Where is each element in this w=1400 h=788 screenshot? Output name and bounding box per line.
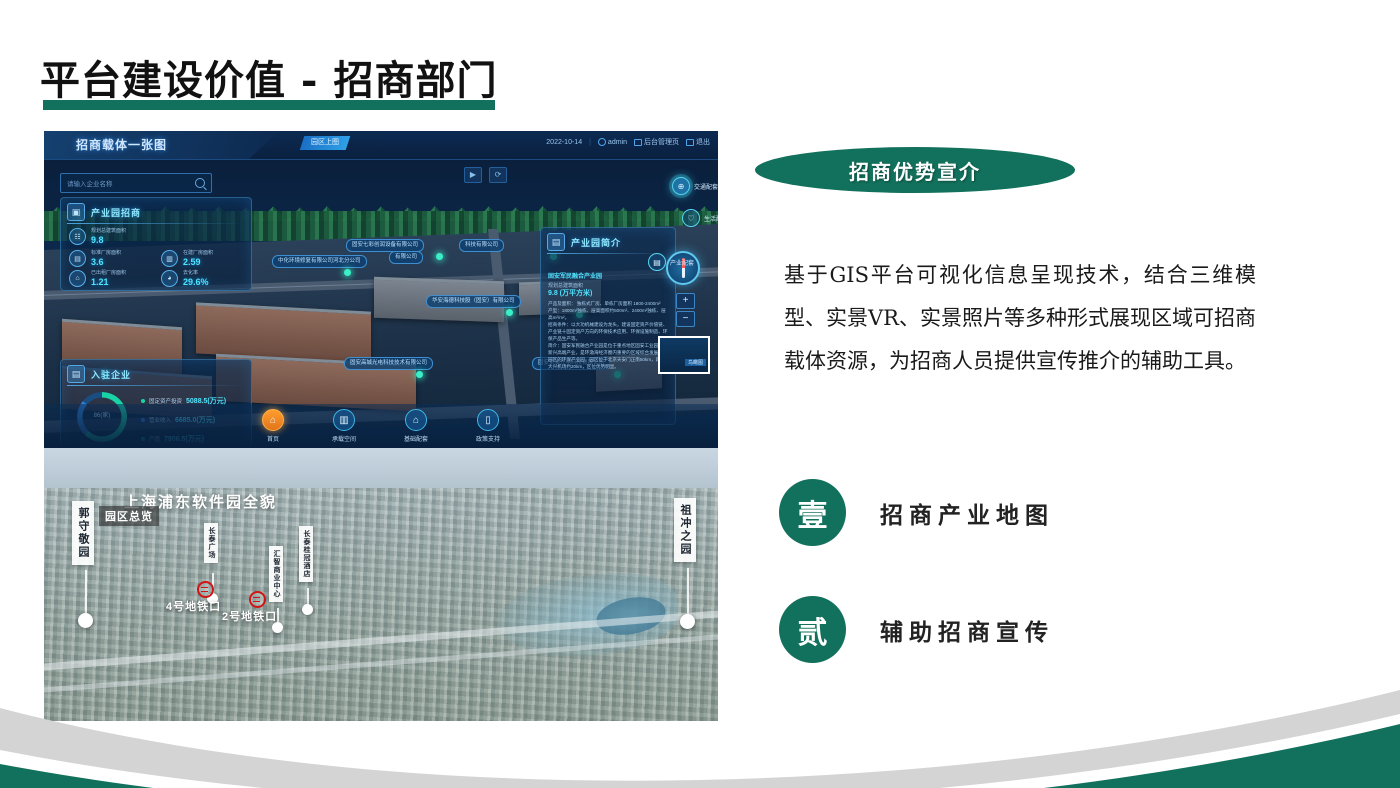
map-label[interactable]: 固安高城光电科技技术有限公司: [344, 357, 433, 370]
monitor-icon: [634, 139, 642, 146]
stat-label: 在建厂房面积: [183, 250, 213, 257]
panel-title: 产业园招商: [91, 206, 141, 219]
stat-item: ▤ 标准厂房面积 3.6: [69, 250, 121, 267]
bullet-item-2: 贰 辅助招商宣传: [779, 596, 1054, 663]
factory-icon: ▤: [69, 250, 86, 267]
pin-stem: [687, 568, 689, 616]
admin-link-label: 后台管理页: [644, 137, 679, 147]
bullet-number: 贰: [779, 596, 846, 663]
user-menu[interactable]: admin: [598, 138, 627, 146]
building-icon: ▣: [67, 203, 85, 221]
panel-header: ▤ 入驻企业: [67, 365, 131, 383]
legend-swatch: [141, 399, 145, 403]
stat-item: ☷ 规划总建筑面积 9.8: [69, 228, 126, 245]
logout-label: 退出: [696, 137, 710, 147]
panel-divider: [67, 385, 243, 386]
users-icon: ☷: [69, 228, 86, 245]
home-icon: ⌂: [69, 270, 86, 287]
intro-paragraph: 招商条件：以大功机械建设为龙头，建设固定资产价值链、产业链十固定资产方向的环保技…: [548, 322, 667, 341]
bullet-label: 招商产业地图: [880, 496, 1054, 530]
bullet-number: 壹: [779, 479, 846, 546]
info-icon: ▤: [547, 233, 565, 251]
float-button-transport[interactable]: ⊕ 交通配套: [672, 177, 718, 195]
industry-icon: ▤: [648, 253, 666, 271]
pin-marker[interactable]: [78, 613, 93, 628]
user-icon: [598, 138, 606, 146]
header-right-group: 2022-10-14 | admin 后台管理页 退出: [546, 137, 710, 147]
stat-value: 1.21: [91, 277, 126, 287]
panel-header: ▣ 产业园招商: [67, 203, 141, 221]
stat-value: 3.6: [91, 257, 121, 267]
policy-icon: ▯: [477, 409, 499, 431]
intro-area-value: 9.8 (万平方米): [548, 290, 668, 297]
nav-item-space[interactable]: ▥ 承载空间: [332, 409, 356, 443]
pie-icon: ◕: [161, 270, 178, 287]
body-paragraph: 基于GIS平台可视化信息呈现技术，结合三维模型、实景VR、实景照片等多种形式展现…: [784, 254, 1256, 383]
stat-item: ▥ 在建厂房面积 2.59: [161, 250, 213, 267]
map-label[interactable]: 有限公司: [389, 251, 423, 264]
page-title: 平台建设价值 - 招商部门: [40, 48, 497, 106]
panel-divider: [67, 223, 243, 224]
pin-stem: [85, 570, 87, 615]
intro-paragraph: 产型：1800m²独栋、层高面积约500m²、2400m²独栋、层高m²/m²。: [548, 308, 666, 320]
minimap-thumbnail[interactable]: [658, 336, 710, 374]
metro-label: 4号地铁口: [166, 598, 221, 614]
zoom-in-button[interactable]: +: [676, 293, 695, 309]
refresh-button[interactable]: ⟳: [489, 167, 507, 183]
nav-item-facility[interactable]: ⌂ 基础配套: [404, 409, 428, 443]
map-marker[interactable]: [436, 253, 443, 260]
float-button-label: 产业配套: [670, 258, 694, 267]
aerial-photo: 上海浦东软件园全貌 园区总览 郭守敬园 祖冲之园 长泰广场 汇智商业中心 长泰桂…: [44, 448, 718, 721]
stat-label: 规划总建筑面积: [91, 228, 126, 235]
nav-item-label: 首页: [267, 434, 279, 443]
user-name: admin: [608, 139, 627, 146]
nav-item-home[interactable]: ⌂ 首页: [262, 409, 284, 443]
nav-item-label: 承载空间: [332, 434, 356, 443]
stat-label: 标准厂房面积: [91, 250, 121, 257]
nav-item-label: 基础配套: [404, 434, 428, 443]
stat-item: ⌂ 已出租厂房面积 1.21: [69, 270, 126, 287]
title-underline-rule: [43, 100, 495, 110]
home-icon: ⌂: [262, 409, 284, 431]
bullet-label: 辅助招商宣传: [880, 613, 1054, 647]
section-pill-label: 招商优势宣介: [755, 147, 1075, 193]
header-badge[interactable]: 园区上图: [300, 136, 351, 150]
header-separator: |: [589, 139, 591, 146]
gis-screenshot-frame: 中化环境修复有限公司河北分公司 固安七彩创润设备有限公司 科技有限公司 有限公司…: [44, 131, 718, 721]
metro-icon[interactable]: [197, 581, 214, 598]
play-button[interactable]: ▶: [464, 167, 482, 183]
nav-item-policy[interactable]: ▯ 政策支持: [476, 409, 500, 443]
pin-label[interactable]: 郭守敬园: [72, 501, 94, 565]
map-marker[interactable]: [506, 309, 513, 316]
pin-marker[interactable]: [680, 614, 695, 629]
pin-label[interactable]: 长泰桂冠酒店: [299, 526, 313, 582]
life-icon: ♡: [682, 209, 700, 227]
panel-title: 入驻企业: [91, 368, 131, 381]
pin-label[interactable]: 长泰广场: [204, 523, 218, 563]
intro-paragraph: 简介：固安军民融合产业园是位于重点地区固安工业园区的新兴高端产业，是环渤海经济圈…: [548, 343, 667, 369]
pin-marker[interactable]: [302, 604, 313, 615]
industrial-park-panel: ▣ 产业园招商 ☷ 规划总建筑面积 9.8 ▤ 标准厂房面积 3.6 ▥: [60, 197, 252, 291]
footer-wave-white: [0, 714, 1400, 788]
map-marker[interactable]: [416, 371, 423, 378]
admin-link[interactable]: 后台管理页: [634, 137, 679, 147]
minimap-label: 鸟瞰图: [685, 359, 706, 366]
panel-title: 产业园简介: [571, 236, 621, 249]
nav-item-label: 政策支持: [476, 434, 500, 443]
footer-wave-green: [0, 724, 1400, 788]
map-label[interactable]: 华安海德科技股（固安）有限公司: [426, 295, 521, 308]
document-icon: ▤: [67, 365, 85, 383]
crane-icon: ▥: [161, 250, 178, 267]
search-icon[interactable]: [195, 178, 205, 188]
pin-label[interactable]: 汇智商业中心: [269, 546, 283, 602]
intro-subtitle: 固安军民融合产业园: [548, 274, 668, 281]
metro-label: 2号地铁口: [222, 608, 277, 624]
facility-icon: ⌂: [405, 409, 427, 431]
search-placeholder: 请输入企业名称: [67, 178, 113, 188]
stat-value: 29.6%: [183, 277, 209, 287]
header-badge-label: 园区上图: [311, 136, 339, 150]
mini-toolbar: ▶ ⟳: [464, 167, 507, 183]
float-button-industry[interactable]: ▤ 产业配套: [648, 253, 694, 271]
app-title: 招商载体一张图: [76, 136, 167, 153]
bottom-navigation: ⌂ 首页 ▥ 承载空间 ⌂ 基础配套 ▯ 政策支持: [44, 404, 718, 448]
overview-tag: 园区总览: [99, 506, 159, 526]
intro-area-label: 规划总建筑面积: [548, 283, 668, 290]
float-button-life[interactable]: ♡ 生活配套: [682, 209, 718, 227]
map-label[interactable]: 中化环境修复有限公司河北分公司: [272, 255, 367, 268]
logout-link[interactable]: 退出: [686, 137, 710, 147]
logout-icon: [686, 139, 694, 146]
zoom-out-button[interactable]: −: [676, 311, 695, 327]
bullet-item-1: 壹 招商产业地图: [779, 479, 1054, 546]
park-intro-body: 固安军民融合产业园 规划总建筑面积 9.8 (万平方米) 产品及面积： 独栋式厂…: [548, 274, 668, 370]
map-marker[interactable]: [344, 269, 351, 276]
map-label[interactable]: 科技有限公司: [459, 239, 504, 252]
stat-value: 2.59: [183, 257, 213, 267]
transport-icon: ⊕: [672, 177, 690, 195]
float-button-label: 生活配套: [704, 214, 718, 223]
pin-label[interactable]: 祖冲之园: [674, 498, 696, 562]
gis-application: 中化环境修复有限公司河北分公司 固安七彩创润设备有限公司 科技有限公司 有限公司…: [44, 131, 718, 448]
metro-icon[interactable]: [249, 591, 266, 608]
intro-paragraph: 产品及面积： 独栋式厂房、单栋厂房面积 1800-2400m²: [548, 301, 661, 306]
space-icon: ▥: [333, 409, 355, 431]
stat-label: 已出租厂房面积: [91, 270, 126, 277]
stat-value: 9.8: [91, 235, 126, 245]
panel-header: ▤ 产业园简介: [547, 233, 621, 251]
float-button-label: 交通配套: [694, 182, 718, 191]
header-date: 2022-10-14: [546, 139, 582, 146]
stat-label: 去化率: [183, 270, 209, 277]
search-input[interactable]: 请输入企业名称: [60, 173, 212, 193]
stat-item: ◕ 去化率 29.6%: [161, 270, 209, 287]
